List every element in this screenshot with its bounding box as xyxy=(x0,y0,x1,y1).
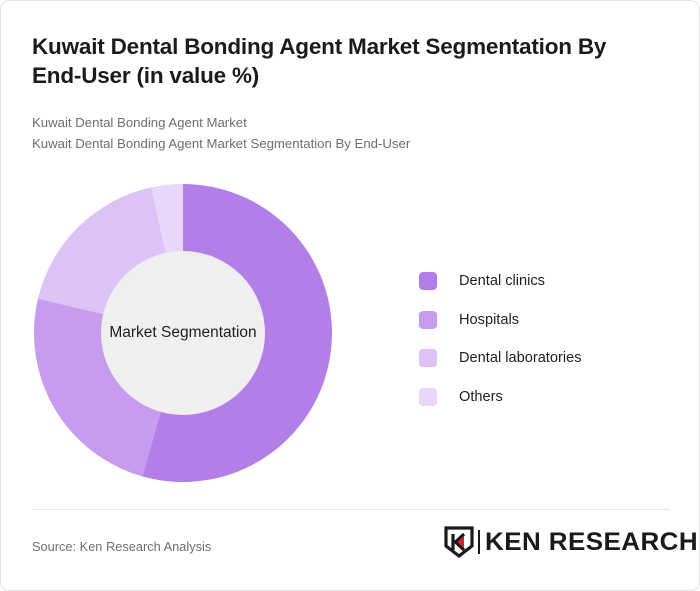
legend-item-label: Others xyxy=(459,389,503,405)
legend-item[interactable]: Dental laboratories xyxy=(419,339,669,378)
legend-color-swatch xyxy=(419,388,437,406)
legend-item-label: Hospitals xyxy=(459,312,519,328)
donut-chart-svg xyxy=(34,184,332,482)
legend-color-swatch xyxy=(419,311,437,329)
legend-item-label: Dental clinics xyxy=(459,273,545,289)
logo-wordmark: KEN RESEARCH xyxy=(485,528,698,557)
source-note: Source: Ken Research Analysis xyxy=(32,539,211,554)
chart-legend: Dental clinicsHospitalsDental laboratori… xyxy=(419,262,669,416)
donut-center-hole xyxy=(101,251,265,415)
page-title: Kuwait Dental Bonding Agent Market Segme… xyxy=(32,32,657,90)
footer-divider xyxy=(32,509,670,510)
legend-item[interactable]: Others xyxy=(419,378,669,417)
legend-item-label: Dental laboratories xyxy=(459,350,582,366)
logo-separator xyxy=(478,530,480,554)
chart-card: Kuwait Dental Bonding Agent Market Segme… xyxy=(0,0,700,591)
subtitle-segmentation: Kuwait Dental Bonding Agent Market Segme… xyxy=(32,135,410,153)
legend-item[interactable]: Hospitals xyxy=(419,301,669,340)
donut-chart: Market Segmentation xyxy=(34,184,332,482)
ken-research-logo: KEN RESEARCH xyxy=(444,525,690,559)
shield-logo-icon xyxy=(444,526,474,558)
legend-color-swatch xyxy=(419,272,437,290)
legend-item[interactable]: Dental clinics xyxy=(419,262,669,301)
subtitle-market: Kuwait Dental Bonding Agent Market xyxy=(32,114,247,132)
legend-color-swatch xyxy=(419,349,437,367)
